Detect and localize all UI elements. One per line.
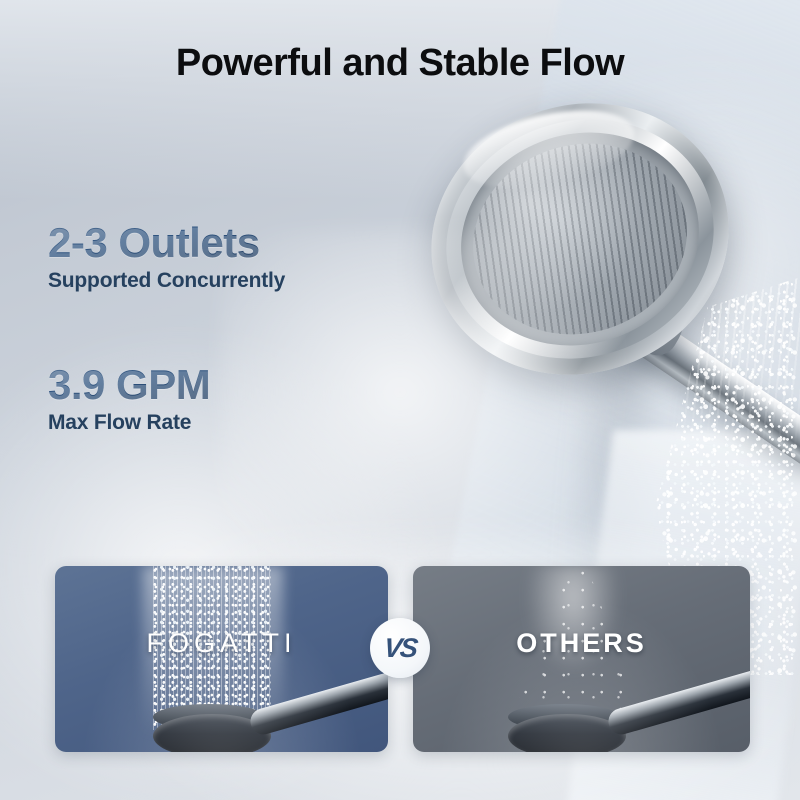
stat-outlets-value: 2-3 Outlets <box>48 220 285 265</box>
vs-badge-icon: VS <box>370 618 430 678</box>
panel-sheen <box>55 566 388 752</box>
stat-flow-rate-value: 3.9 GPM <box>48 362 210 407</box>
panel-sheen <box>413 566 750 752</box>
comparison-panel-fogatti: FOGATTI <box>55 566 388 752</box>
page-title: Powerful and Stable Flow <box>0 42 800 85</box>
panel-label-fogatti: FOGATTI <box>55 628 388 659</box>
stat-flow-rate: 3.9 GPM Max Flow Rate <box>48 362 210 435</box>
showerhead-illustration <box>400 95 800 455</box>
stat-outlets-label: Supported Concurrently <box>48 269 285 293</box>
stat-outlets: 2-3 Outlets Supported Concurrently <box>48 220 285 293</box>
panel-label-others: OTHERS <box>413 628 750 659</box>
stat-flow-rate-label: Max Flow Rate <box>48 411 210 435</box>
product-feature-banner: Powerful and Stable Flow 2-3 Outlets Sup… <box>0 0 800 800</box>
comparison-panel-others: OTHERS <box>413 566 750 752</box>
vs-badge-label: VS <box>382 633 417 664</box>
